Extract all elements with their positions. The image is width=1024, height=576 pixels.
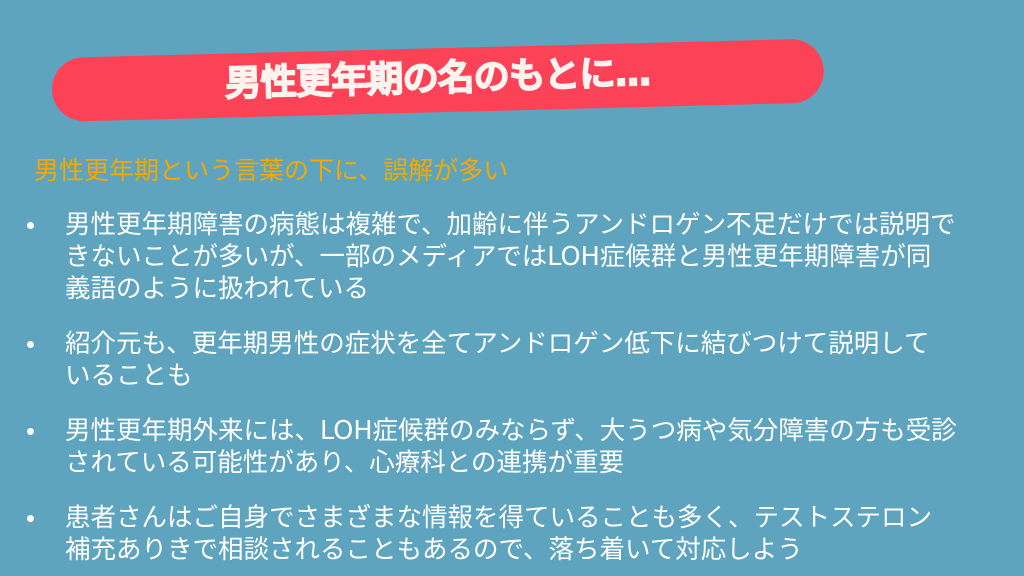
bullet-dot-icon [27, 341, 34, 348]
bullet-text: 患者さんはご自身でさまざまな情報を得ていることも多く、テストステロン 補充ありき… [65, 502, 1024, 566]
bullet-line: されている可能性があり、心療科との連携が重要 [65, 447, 1002, 479]
bullet-line: いることも [65, 360, 1002, 392]
bullet-line: きないことが多いが、一部のメディアではLOH症候群と男性更年期障害が同 [65, 241, 1002, 273]
bullet-text: 男性更年期障害の病態は複雑で、加齢に伴うアンドロゲン不足だけでは説明で きないこ… [65, 209, 1024, 305]
bullet-line: 補充ありきで相談されることもあるので、落ち着いて対応しよう [65, 534, 1002, 566]
bullet-text: 男性更年期外来には、LOH症候群のみならず、大うつ病や気分障害の方も受診 されて… [65, 415, 1024, 479]
bullet-line: 紹介元も、更年期男性の症状を全てアンドロゲン低下に結びつけて説明して [65, 328, 1002, 360]
bullet-line: 義語のように扱われている [65, 273, 1002, 305]
bullet-text: 紹介元も、更年期男性の症状を全てアンドロゲン低下に結びつけて説明して いることも [65, 328, 1024, 392]
slide-subtitle: 男性更年期という言葉の下に、誤解が多い [0, 155, 1024, 186]
presentation-slide: 男性更年期の名のもとに… 男性更年期という言葉の下に、誤解が多い 男性更年期障害… [0, 0, 1024, 576]
bullet-line: 男性更年期障害の病態は複雑で、加齢に伴うアンドロゲン不足だけでは説明で [65, 209, 1002, 241]
list-item: 男性更年期外来には、LOH症候群のみならず、大うつ病や気分障害の方も受診 されて… [0, 415, 1024, 479]
list-item: 紹介元も、更年期男性の症状を全てアンドロゲン低下に結びつけて説明して いることも [0, 328, 1024, 392]
bullet-line: 男性更年期外来には、LOH症候群のみならず、大うつ病や気分障害の方も受診 [65, 415, 1002, 447]
bullet-list: 男性更年期障害の病態は複雑で、加齢に伴うアンドロゲン不足だけでは説明で きないこ… [0, 209, 1024, 566]
title-banner: 男性更年期の名のもとに… [51, 38, 824, 122]
list-item: 男性更年期障害の病態は複雑で、加齢に伴うアンドロゲン不足だけでは説明で きないこ… [0, 209, 1024, 305]
bullet-line: 患者さんはご自身でさまざまな情報を得ていることも多く、テストステロン [65, 502, 1002, 534]
bullet-dot-icon [27, 222, 34, 229]
list-item: 患者さんはご自身でさまざまな情報を得ていることも多く、テストステロン 補充ありき… [0, 502, 1024, 566]
bullet-dot-icon [27, 515, 34, 522]
slide-title: 男性更年期の名のもとに… [225, 56, 651, 105]
bullet-dot-icon [27, 428, 34, 435]
slide-content: 男性更年期という言葉の下に、誤解が多い 男性更年期障害の病態は複雑で、加齢に伴う… [0, 155, 1024, 566]
